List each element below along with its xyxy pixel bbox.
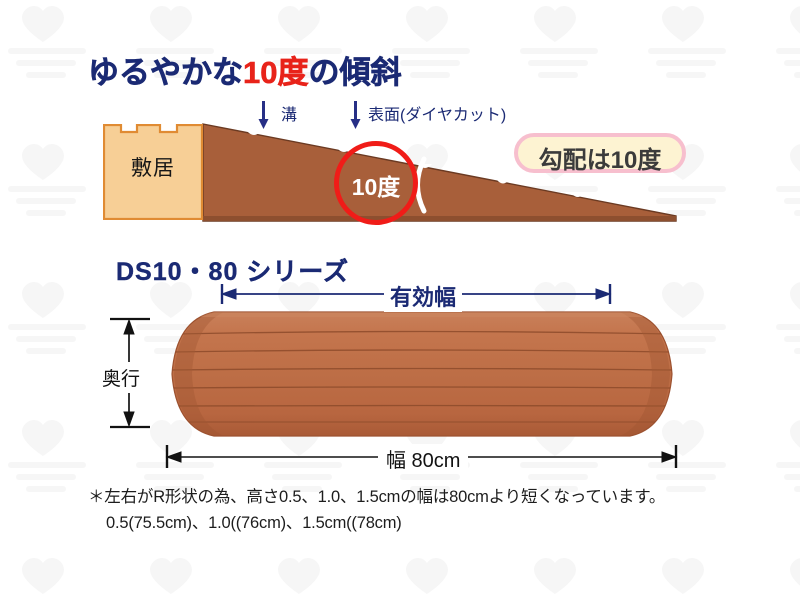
footnote-line-2: 0.5(75.5cm)、1.0((76cm)、1.5cm((78cm) (106, 510, 748, 536)
width-label: 幅 80cm (378, 444, 468, 473)
product-diagram-page: ゆるやかな10度の傾斜 敷居 溝 表面(ダイヤカット) 勾配は10度 10度 D… (0, 0, 800, 600)
footnote-line-1: ＊左右がR形状の為、高さ0.5、1.0、1.5cmの幅は80cmより短くなってい… (88, 488, 665, 506)
depth-label: 奥行 (101, 362, 141, 393)
footnote: ＊左右がR形状の為、高さ0.5、1.0、1.5cmの幅は80cmより短くなってい… (88, 484, 748, 536)
effective-width-label: 有効幅 (384, 280, 462, 312)
